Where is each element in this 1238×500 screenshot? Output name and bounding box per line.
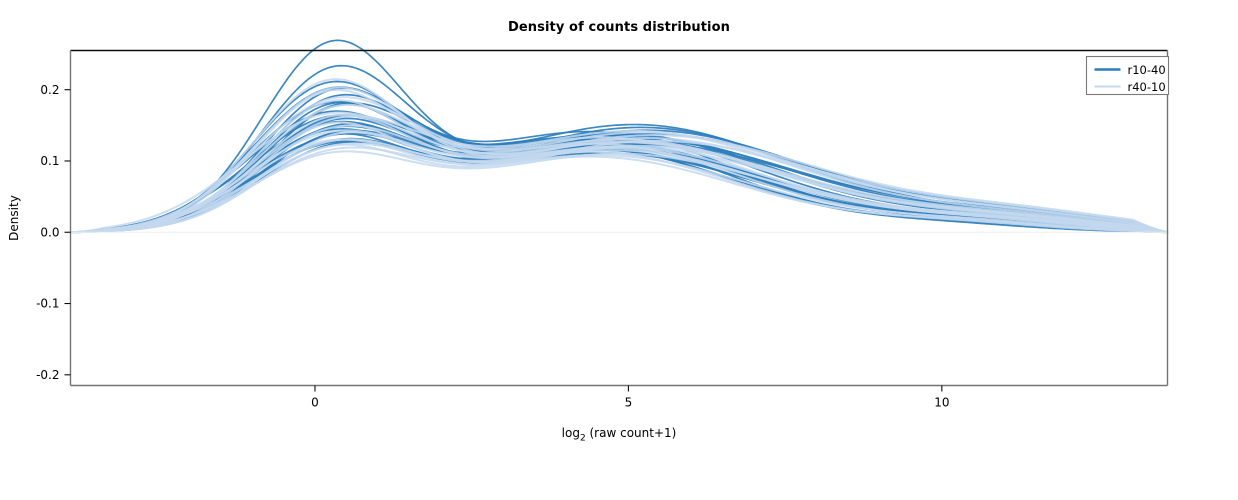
density-chart-figure: Density of counts distribution 0.20.10.0…	[0, 0, 1238, 500]
axes-layer: 0.20.10.0-0.1-0.20510log2 (raw count+1)D…	[7, 51, 1168, 444]
x-tick-label: 10	[934, 396, 949, 410]
y-axis-label: Density	[7, 195, 21, 241]
x-tick-label: 5	[625, 396, 633, 410]
y-tick-label: 0.1	[40, 154, 59, 168]
legend-label: r10-40	[1128, 63, 1166, 77]
legend-label: r40-10	[1128, 80, 1166, 94]
x-tick-label: 0	[311, 396, 319, 410]
y-tick-label: -0.1	[36, 297, 59, 311]
chart-legend: r10-40r40-10	[1087, 57, 1169, 95]
y-tick-label: 0.2	[40, 83, 59, 97]
density-plot: 0.20.10.0-0.1-0.20510log2 (raw count+1)D…	[0, 0, 1238, 500]
x-axis-label: log2 (raw count+1)	[562, 426, 677, 444]
y-tick-label: -0.2	[36, 368, 59, 382]
y-tick-label: 0.0	[40, 225, 59, 239]
density-curves-layer	[71, 40, 1168, 232]
